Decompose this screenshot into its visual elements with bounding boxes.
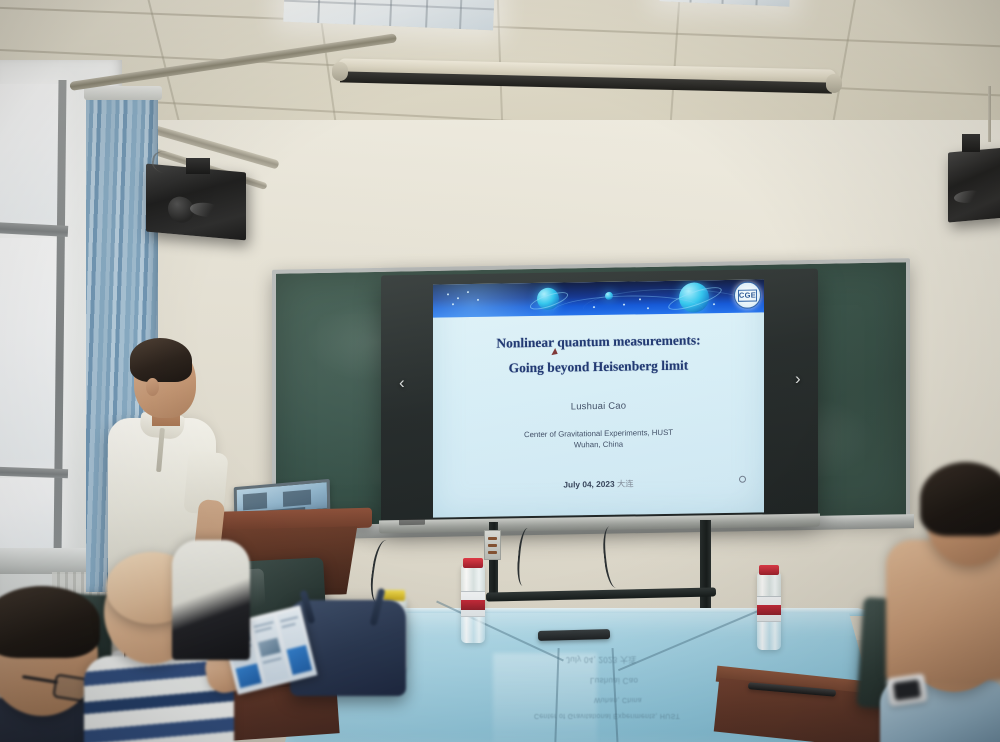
ceiling-light-panel — [283, 0, 495, 30]
slide-affiliation: Center of Gravitational Experiments, HUS… — [433, 425, 764, 453]
slide-next-icon[interactable]: › — [795, 370, 801, 387]
water-bottle-right[interactable] — [757, 572, 781, 650]
cge-logo-text: CGE — [738, 289, 757, 301]
presenter-hair — [130, 338, 192, 382]
audience-standing-rear-torso — [172, 540, 250, 660]
presenter-ear — [146, 378, 159, 396]
slide-date: July 04, 2023 — [563, 479, 614, 490]
tv-remote[interactable] — [538, 629, 610, 641]
interactive-display[interactable]: CGE Nonlinear quantum measurements: Goin… — [381, 269, 818, 526]
table-reflection-author: Lushuai Cao — [590, 676, 638, 685]
curtain-header — [84, 86, 162, 100]
table-reflection-city: Wuhan, China — [594, 696, 642, 703]
table-reflection-date: July 04, 2023 大连 — [566, 654, 637, 665]
slide-title-line2: Going beyond Heisenberg limit — [433, 352, 764, 382]
presentation-slide: CGE Nonlinear quantum measurements: Goin… — [433, 279, 764, 517]
audience-right-near-hair — [920, 462, 1000, 536]
speaker-wire-right — [988, 86, 991, 142]
slide-author: Lushuai Cao — [433, 398, 764, 414]
table-reflection-affiliation: Center of Gravitational Experiments, HUS… — [534, 712, 680, 719]
water-bottle-right-cap — [759, 565, 779, 575]
roller-endcap-right — [826, 74, 842, 93]
window-pane-mid — [0, 238, 62, 468]
cge-seal-logo: CGE — [734, 281, 761, 308]
slide-date-row: July 04, 2023 大连 — [433, 475, 764, 492]
slide-prev-icon[interactable]: ‹ — [399, 374, 405, 391]
wall-outlet-plate[interactable] — [484, 530, 501, 560]
roller-endcap-left — [332, 62, 348, 81]
photo-scene: CGE Nonlinear quantum measurements: Goin… — [0, 0, 1000, 742]
slide-title: Nonlinear quantum measurements: Going be… — [433, 327, 764, 382]
smartwatch-face — [893, 679, 921, 700]
speaker-bracket-left — [186, 158, 210, 174]
window-pane-top — [0, 84, 62, 228]
display-brand-logo — [399, 519, 425, 525]
water-bottle-back[interactable] — [461, 565, 485, 643]
water-bottle-back-cap — [463, 558, 483, 568]
slide-banner: CGE — [433, 279, 764, 317]
wall-speaker-left — [146, 164, 246, 241]
speaker-bracket-right — [962, 134, 980, 152]
wall-speaker-right — [948, 147, 1000, 222]
smartwatch[interactable] — [886, 673, 928, 706]
slide-date-city: 大连 — [617, 478, 634, 488]
display-stand-leg-right — [700, 520, 711, 616]
